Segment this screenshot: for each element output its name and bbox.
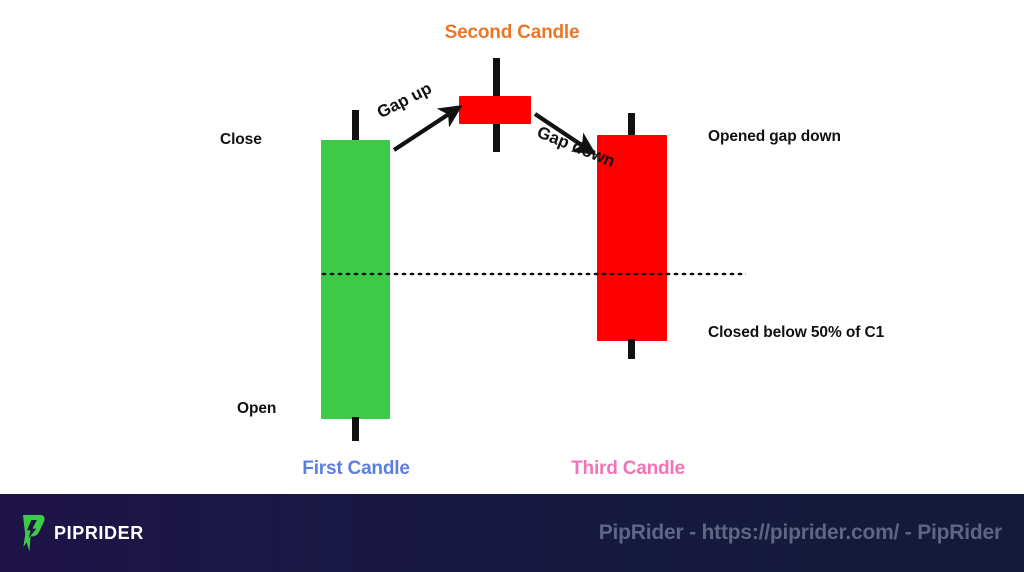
brand-logo[interactable]: PIPRIDER — [20, 513, 144, 553]
second-candle-title: Second Candle — [0, 22, 1024, 44]
brand-logo-text: PIPRIDER — [54, 523, 144, 544]
closed-below-50-label: Closed below 50% of C1 — [708, 324, 884, 342]
open-label: Open — [237, 400, 276, 418]
third-candle-lower-wick — [628, 339, 635, 359]
fifty-percent-reference-line — [320, 272, 746, 276]
opened-gap-down-label: Opened gap down — [708, 128, 841, 146]
first-candle-upper-wick — [352, 110, 359, 142]
first-candle-body — [321, 140, 390, 419]
candlestick-diagram: Second Candle First Candle Third Candle … — [0, 0, 1024, 494]
footer-caption: PipRider - https://piprider.com/ - PipRi… — [0, 494, 1024, 572]
piprider-bolt-icon — [20, 513, 46, 553]
footer-bar: PIPRIDER PipRider - https://piprider.com… — [0, 494, 1024, 572]
close-label: Close — [220, 131, 262, 149]
second-candle-body — [459, 96, 531, 124]
third-candle-title: Third Candle — [540, 458, 716, 480]
first-candle-lower-wick — [352, 417, 359, 441]
first-candle-title: First Candle — [268, 458, 444, 480]
